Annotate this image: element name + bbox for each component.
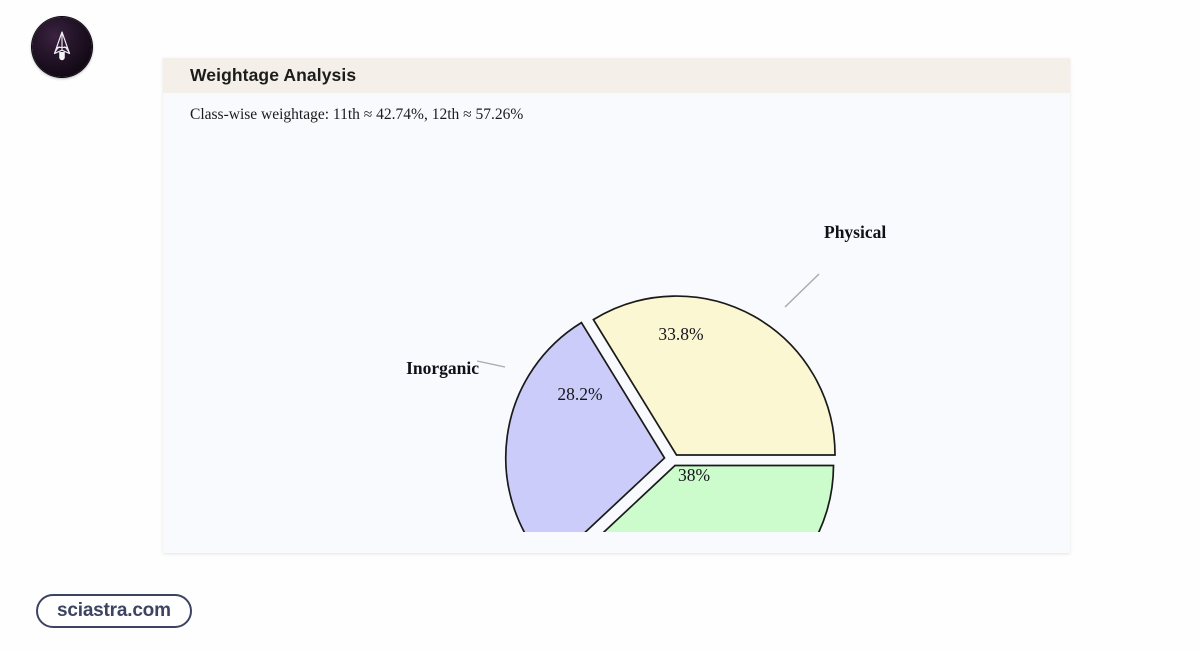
pie-chart: 33.8% 38% 28.2% Physical Organic Inorgan… [163,124,1070,532]
class-weightage-summary: Class-wise weightage: 11th ≈ 42.74%, 12t… [163,93,1070,124]
pie-label-physical: Physical [824,222,886,242]
pie-value-inorganic: 28.2% [557,384,602,404]
site-url-label: sciastra.com [57,600,171,622]
pie-value-organic: 38% [678,465,710,485]
card-header: Weightage Analysis [163,58,1070,93]
brand-logo [32,17,92,77]
weightage-analysis-card: Weightage Analysis Class-wise weightage:… [163,58,1070,553]
pie-chart-area: 33.8% 38% 28.2% Physical Organic Inorgan… [163,124,1070,532]
leader-line-physical [785,274,819,307]
site-url-badge[interactable]: sciastra.com [36,594,192,628]
rocket-spire-icon [42,27,82,67]
pie-label-inorganic: Inorganic [406,358,479,378]
leader-line-inorganic [477,361,505,367]
page-title: Weightage Analysis [190,65,356,86]
pie-value-physical: 33.8% [658,324,703,344]
